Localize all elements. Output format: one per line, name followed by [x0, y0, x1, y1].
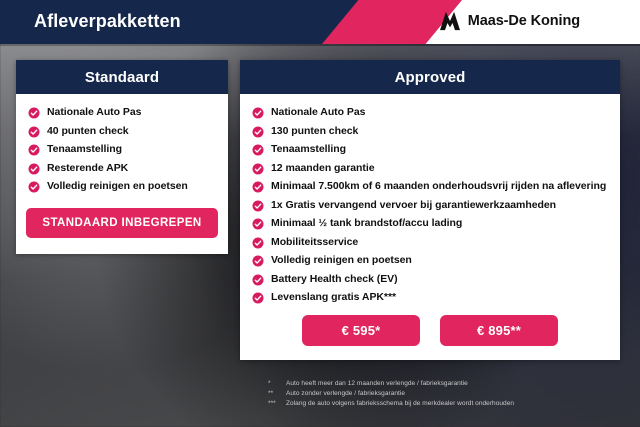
- list-item: Minimaal ½ tank brandstof/accu lading: [252, 217, 610, 231]
- card-approved-header: Approved: [240, 60, 620, 94]
- list-item: 40 punten check: [28, 125, 218, 139]
- check-circle-icon: [252, 218, 264, 230]
- card-standaard-title: Standaard: [85, 69, 159, 86]
- feature-label: Volledig reinigen en poetsen: [271, 254, 412, 268]
- footnote-text: Auto heeft meer dan 12 maanden verlengde…: [286, 379, 628, 388]
- check-circle-icon: [252, 237, 264, 249]
- feature-label: Tenaamstelling: [271, 143, 346, 157]
- feature-label: Nationale Auto Pas: [271, 106, 365, 120]
- check-circle-icon: [252, 144, 264, 156]
- footnote-text: Zolang de auto volgens fabrieksschema bi…: [286, 399, 628, 408]
- feature-label: Volledig reinigen en poetsen: [47, 180, 188, 194]
- check-circle-icon: [252, 292, 264, 304]
- feature-label: Minimaal 7.500km of 6 maanden onderhouds…: [271, 180, 606, 194]
- feature-label: Levenslang gratis APK***: [271, 291, 396, 305]
- feature-label: Resterende APK: [47, 162, 128, 176]
- card-approved-title: Approved: [395, 69, 466, 86]
- footnote-marker: ***: [268, 399, 286, 408]
- list-item: 130 punten check: [252, 125, 610, 139]
- list-item: Nationale Auto Pas: [28, 106, 218, 120]
- feature-label: Minimaal ½ tank brandstof/accu lading: [271, 217, 462, 231]
- list-item: Resterende APK: [28, 162, 218, 176]
- check-circle-icon: [252, 126, 264, 138]
- list-item: Volledig reinigen en poetsen: [28, 180, 218, 194]
- list-item: Tenaamstelling: [252, 143, 610, 157]
- check-circle-icon: [28, 126, 40, 138]
- list-item: Mobiliteitsservice: [252, 236, 610, 250]
- price-button-row: € 595* € 895**: [240, 305, 620, 348]
- list-item: Nationale Auto Pas: [252, 106, 610, 120]
- standaard-inbegrepen-button[interactable]: STANDAARD INBEGREPEN: [26, 208, 218, 238]
- footnote-1: * Auto heeft meer dan 12 maanden verleng…: [268, 379, 628, 388]
- card-approved-body: Nationale Auto Pas 130 punten check Tena…: [240, 94, 620, 360]
- card-standaard-body: Nationale Auto Pas 40 punten check Tenaa…: [16, 94, 228, 254]
- check-circle-icon: [252, 107, 264, 119]
- feature-label: 130 punten check: [271, 125, 358, 139]
- maas-de-koning-logo-mark-icon: [439, 11, 461, 31]
- feature-label: Tenaamstelling: [47, 143, 122, 157]
- card-standaard-header: Standaard: [16, 60, 228, 94]
- feature-label: Battery Health check (EV): [271, 273, 398, 287]
- approved-feature-list: Nationale Auto Pas 130 punten check Tena…: [240, 106, 620, 305]
- brand-lockup: Maas-De Koning: [439, 11, 580, 31]
- brand-name: Maas-De Koning: [468, 13, 580, 29]
- card-standaard: Standaard Nationale Auto Pas 40 punten c: [16, 60, 228, 254]
- feature-label: 12 maanden garantie: [271, 162, 375, 176]
- check-circle-icon: [252, 274, 264, 286]
- price-button-595[interactable]: € 595*: [302, 315, 420, 346]
- header-underline: [0, 44, 640, 46]
- list-item: Battery Health check (EV): [252, 273, 610, 287]
- list-item: 1x Gratis vervangend vervoer bij garanti…: [252, 199, 610, 213]
- page-root: Afleverpakketten Maas-De Koning Standaar…: [0, 0, 640, 427]
- standaard-button-wrap: STANDAARD INBEGREPEN: [16, 194, 228, 242]
- list-item: 12 maanden garantie: [252, 162, 610, 176]
- check-circle-icon: [28, 107, 40, 119]
- page-title: Afleverpakketten: [34, 11, 181, 32]
- footnote-text: Auto zonder verlengde / fabrieksgarantie: [286, 389, 628, 398]
- list-item: Levenslang gratis APK***: [252, 291, 610, 305]
- check-circle-icon: [28, 144, 40, 156]
- footnote-marker: *: [268, 379, 286, 388]
- footnote-block: * Auto heeft meer dan 12 maanden verleng…: [268, 379, 628, 409]
- check-circle-icon: [252, 163, 264, 175]
- check-circle-icon: [28, 181, 40, 193]
- list-item: Volledig reinigen en poetsen: [252, 254, 610, 268]
- feature-label: Mobiliteitsservice: [271, 236, 358, 250]
- feature-label: Nationale Auto Pas: [47, 106, 141, 120]
- feature-label: 1x Gratis vervangend vervoer bij garanti…: [271, 199, 556, 213]
- footnote-3: *** Zolang de auto volgens fabrieksschem…: [268, 399, 628, 408]
- list-item: Tenaamstelling: [28, 143, 218, 157]
- price-button-895[interactable]: € 895**: [440, 315, 558, 346]
- check-circle-icon: [252, 181, 264, 193]
- standaard-feature-list: Nationale Auto Pas 40 punten check Tenaa…: [16, 106, 228, 194]
- check-circle-icon: [28, 163, 40, 175]
- check-circle-icon: [252, 255, 264, 267]
- card-approved: Approved Nationale Auto Pas 130 punten c: [240, 60, 620, 360]
- check-circle-icon: [252, 200, 264, 212]
- footnote-2: ** Auto zonder verlengde / fabrieksgaran…: [268, 389, 628, 398]
- list-item: Minimaal 7.500km of 6 maanden onderhouds…: [252, 180, 610, 194]
- feature-label: 40 punten check: [47, 125, 129, 139]
- footnote-marker: **: [268, 389, 286, 398]
- page-header: Afleverpakketten Maas-De Koning: [0, 0, 640, 44]
